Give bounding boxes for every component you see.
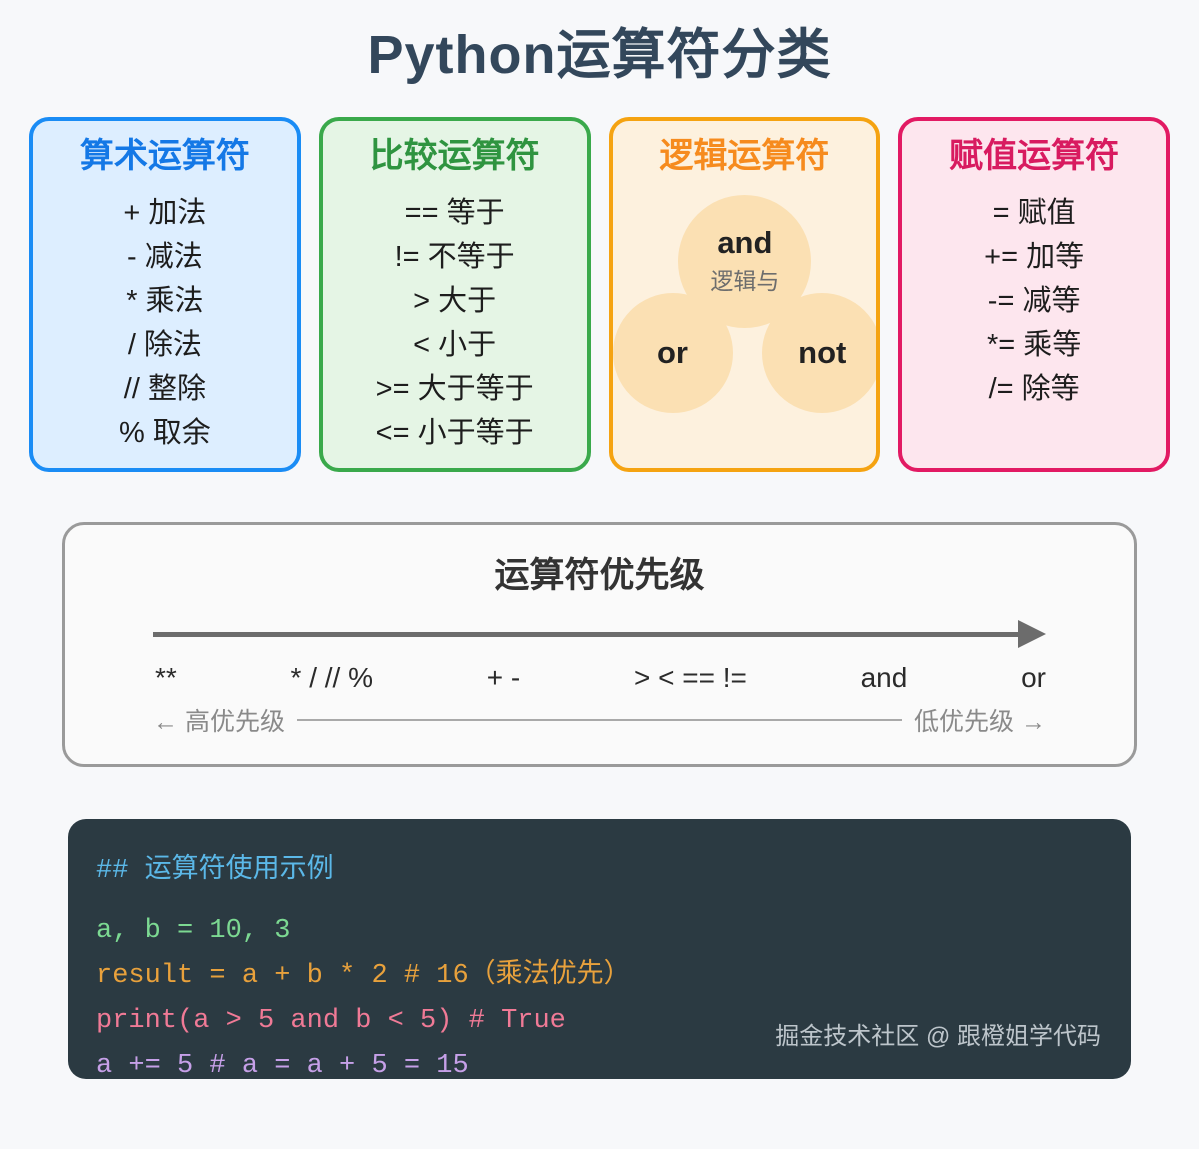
precedence-level: + - (487, 662, 520, 694)
list-item: // 整除 (39, 367, 291, 411)
infographic-root: Python运算符分类 算术运算符 + 加法 - 减法 * 乘法 / 除法 //… (0, 0, 1199, 1079)
card-title-assignment: 赋值运算符 (908, 135, 1160, 178)
watermark: 掘金技术社区 @ 跟橙姐学代码 (775, 1017, 1101, 1057)
low-precedence-label: 低优先级 → (914, 702, 1046, 738)
list-item: > 大于 (329, 279, 581, 323)
arrow-head-icon (1018, 620, 1046, 648)
arrow-line (153, 632, 1022, 637)
venn-word-or: or (657, 337, 688, 370)
code-comment-header: ## 运算符使用示例 (96, 849, 1103, 894)
list-item: /= 除等 (908, 367, 1160, 411)
precedence-levels: ** * / // % + - > < == != and or (155, 662, 1046, 694)
card-title-logical: 逻辑运算符 (619, 135, 871, 178)
venn-circle-not: not (762, 293, 880, 413)
list-item: -= 减等 (908, 279, 1160, 323)
card-title-arithmetic: 算术运算符 (39, 135, 291, 178)
code-line: a, b = 10, 3 (96, 909, 1103, 954)
list-item: += 加等 (908, 235, 1160, 279)
list-item: = 赋值 (908, 191, 1160, 235)
operator-cards-row: 算术运算符 + 加法 - 减法 * 乘法 / 除法 // 整除 % 取余 比较运… (0, 117, 1199, 472)
list-item: >= 大于等于 (329, 367, 581, 411)
list-item: % 取余 (39, 411, 291, 455)
card-logical: 逻辑运算符 and 逻辑与 or not (609, 117, 881, 472)
footer-rule (297, 719, 902, 721)
precedence-title: 运算符优先级 (65, 547, 1134, 598)
list-item: <= 小于等于 (329, 411, 581, 455)
card-comparison: 比较运算符 == 等于 != 不等于 > 大于 < 小于 >= 大于等于 <= … (319, 117, 591, 472)
list-item: == 等于 (329, 191, 581, 235)
precedence-level: ** (155, 662, 177, 694)
venn-word-not: not (798, 337, 846, 370)
list-item: / 除法 (39, 323, 291, 367)
precedence-arrow (153, 624, 1046, 644)
venn-circle-or: or (613, 293, 733, 413)
precedence-level: > < == != (634, 662, 747, 694)
list-item: *= 乘等 (908, 323, 1160, 367)
list-item: + 加法 (39, 191, 291, 235)
precedence-level: and (861, 662, 908, 694)
card-list-assignment: = 赋值 += 加等 -= 减等 *= 乘等 /= 除等 (908, 191, 1160, 411)
venn-sub-and: 逻辑与 (710, 262, 779, 296)
list-item: - 减法 (39, 235, 291, 279)
high-precedence-label: ← 高优先级 (153, 702, 285, 738)
card-assignment: 赋值运算符 = 赋值 += 加等 -= 减等 *= 乘等 /= 除等 (898, 117, 1170, 472)
card-list-comparison: == 等于 != 不等于 > 大于 < 小于 >= 大于等于 <= 小于等于 (329, 191, 581, 455)
logical-venn-diagram: and 逻辑与 or not (619, 191, 871, 471)
list-item: * 乘法 (39, 279, 291, 323)
code-line: result = a + b * 2 # 16（乘法优先） (96, 954, 1103, 999)
precedence-level: * / // % (291, 662, 373, 694)
card-list-arithmetic: + 加法 - 减法 * 乘法 / 除法 // 整除 % 取余 (39, 191, 291, 455)
precedence-footer: ← 高优先级 低优先级 → (153, 702, 1046, 738)
page-title: Python运算符分类 (0, 0, 1199, 90)
precedence-panel: 运算符优先级 ** * / // % + - > < == != and or … (62, 522, 1137, 767)
card-title-comparison: 比较运算符 (329, 135, 581, 178)
code-example-block: ## 运算符使用示例 a, b = 10, 3 result = a + b *… (68, 819, 1131, 1079)
list-item: < 小于 (329, 323, 581, 367)
card-arithmetic: 算术运算符 + 加法 - 减法 * 乘法 / 除法 // 整除 % 取余 (29, 117, 301, 472)
precedence-level: or (1021, 662, 1046, 694)
venn-word-and: and (717, 227, 772, 260)
list-item: != 不等于 (329, 235, 581, 279)
